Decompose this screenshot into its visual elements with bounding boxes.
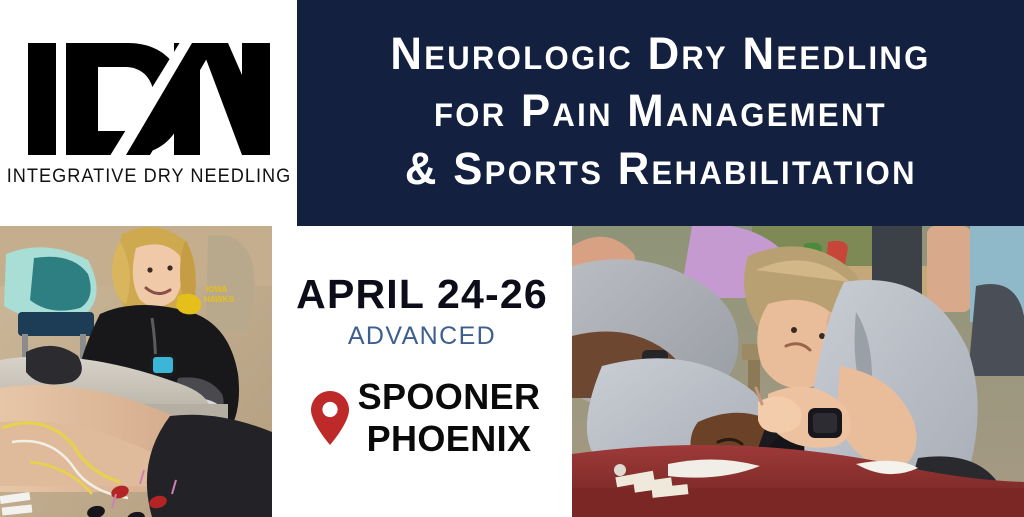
photo-practitioner-treating-patient	[572, 226, 1024, 517]
header-banner: Neurologic Dry Needling for Pain Managem…	[297, 0, 1024, 226]
course-info-panel: APRIL 24-26 ADVANCED SPOONER PHOENIX	[272, 226, 572, 517]
venue-name: SPOONER	[358, 376, 541, 418]
svg-text:HAWKS: HAWKS	[204, 295, 234, 304]
photo-dry-needling-leg-treatment: IOWA HAWKS	[0, 226, 272, 517]
header-title-line-3: & Sports Rehabilitation	[405, 140, 917, 198]
course-level: ADVANCED	[348, 324, 496, 349]
header-title-line-2: for Pain Management	[434, 82, 887, 140]
brand-logo-block: INTEGRATIVE DRY NEEDLING	[0, 0, 297, 226]
brand-tagline: INTEGRATIVE DRY NEEDLING	[6, 165, 291, 188]
map-pin-icon	[310, 390, 350, 446]
svg-text:IOWA: IOWA	[206, 285, 228, 294]
promo-poster: INTEGRATIVE DRY NEEDLING Neurologic Dry …	[0, 0, 1024, 517]
header-title-line-1: Neurologic Dry Needling	[390, 25, 930, 83]
course-location: SPOONER PHOENIX	[272, 376, 572, 460]
course-date: APRIL 24-26	[296, 274, 548, 315]
idn-monogram-logo	[24, 39, 274, 159]
venue-city: PHOENIX	[367, 418, 532, 460]
